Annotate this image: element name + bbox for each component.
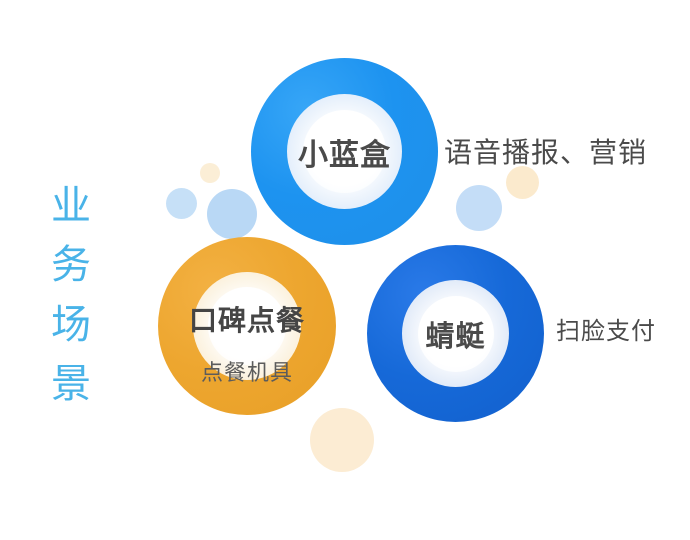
circle-xiaolanhe[interactable]: 小蓝盒 [251,58,438,245]
dot-left-tiny-cream-icon [200,163,220,183]
circle-koubei-label: 口碑点餐 [189,299,305,339]
dot-right-blue-icon [456,185,502,231]
dot-left-small-blue-icon [166,188,197,219]
section-title-char-1: 业 [51,186,91,226]
section-title-char-4: 景 [51,364,91,404]
section-title-char-2: 务 [51,245,91,285]
circle-qingting[interactable]: 蜻蜓 [367,245,544,422]
dot-bottom-cream-icon [310,408,374,472]
infographic-canvas: 业 务 场 景 口碑点餐 点餐机具 小蓝盒 蜻蜓 语音播报、营销 扫脸支付 [0,0,690,540]
circle-qingting-label: 蜻蜓 [425,313,485,355]
caption-voice-broadcast-marketing: 语音播报、营销 [444,131,647,171]
dot-left-large-blue-icon [207,189,257,239]
circle-xiaolanhe-label: 小蓝盒 [298,130,391,174]
caption-face-scan-payment: 扫脸支付 [556,311,656,346]
section-title-vertical: 业 务 场 景 [38,186,104,404]
circle-koubei-sublabel: 点餐机具 [158,355,336,387]
section-title-char-3: 场 [51,305,91,345]
circle-koubei-ordering[interactable]: 口碑点餐 点餐机具 [158,237,336,415]
